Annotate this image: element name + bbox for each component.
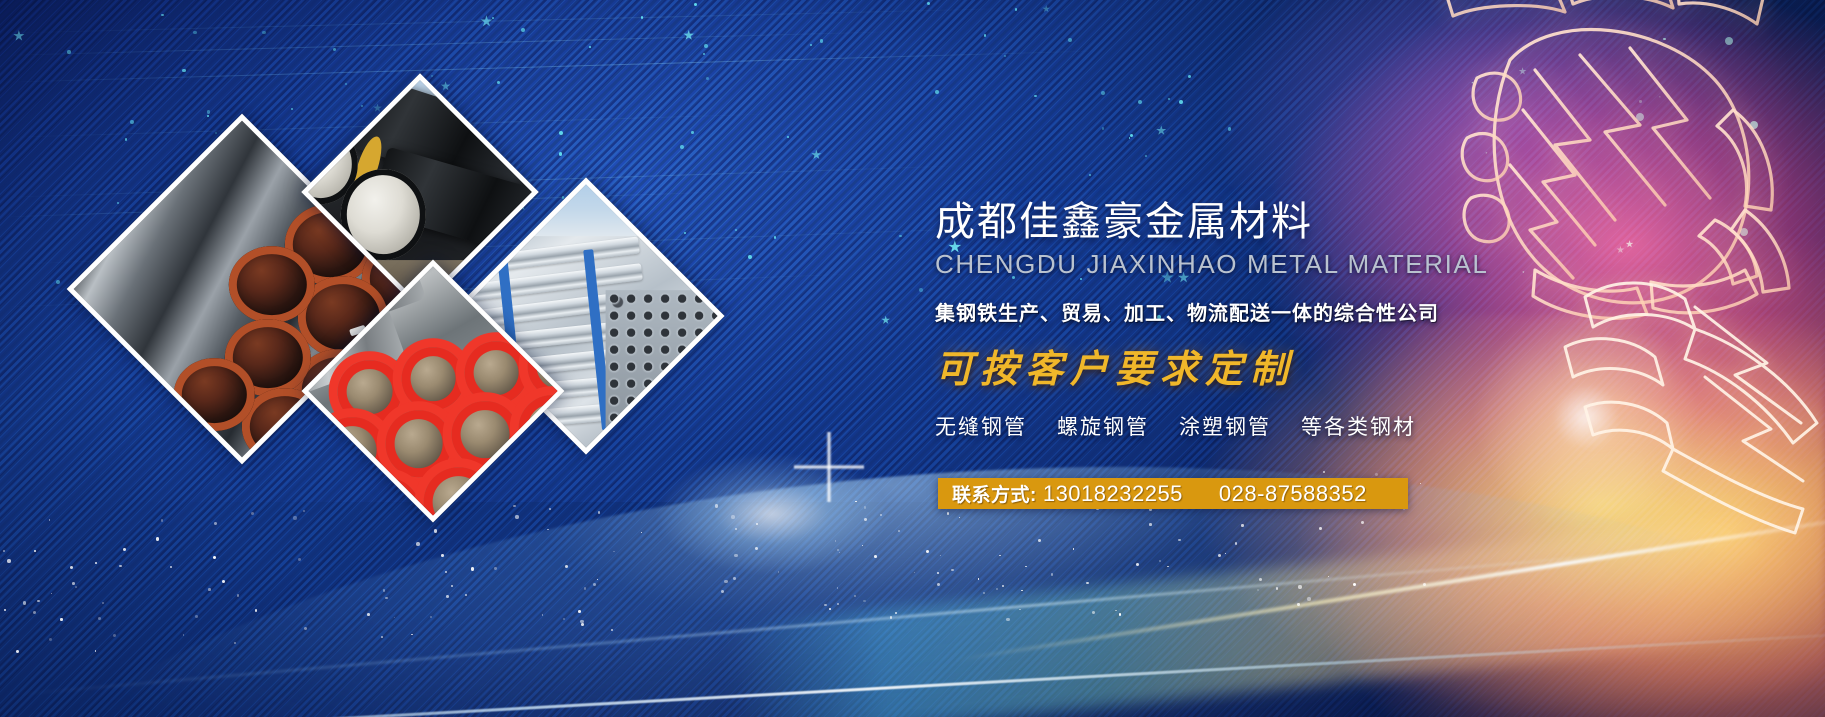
product-item-1: 螺旋钢管 [1057,411,1149,441]
company-name-en: CHENGDU JIAXINHAO METAL MATERIAL [935,249,1495,280]
contact-mobile[interactable]: 13018232255 [1043,481,1183,507]
product-photo-collage [90,90,790,570]
company-banner: 成都佳鑫豪金属材料 CHENGDU JIAXINHAO METAL MATERI… [0,0,1825,717]
product-list: 无缝钢管 螺旋钢管 涂塑钢管 等各类钢材 [935,411,1495,441]
product-item-2: 涂塑钢管 [1179,411,1271,441]
robot-arm-icon [1545,267,1825,547]
contact-label: 联系方式: [952,480,1037,507]
contact-bar: 联系方式: 13018232255 028-87588352 [938,478,1408,509]
company-tagline: 集钢铁生产、贸易、加工、物流配送一体的综合性公司 [935,297,1495,326]
product-item-3: 等各类钢材 [1301,411,1416,441]
banner-text-block: 成都佳鑫豪金属材料 CHENGDU JIAXINHAO METAL MATERI… [935,200,1495,441]
contact-landline[interactable]: 028-87588352 [1219,481,1367,507]
product-item-0: 无缝钢管 [935,411,1027,441]
custom-order-headline: 可按客户要求定制 [935,338,1495,393]
company-name-cn: 成都佳鑫豪金属材料 [935,200,1495,245]
